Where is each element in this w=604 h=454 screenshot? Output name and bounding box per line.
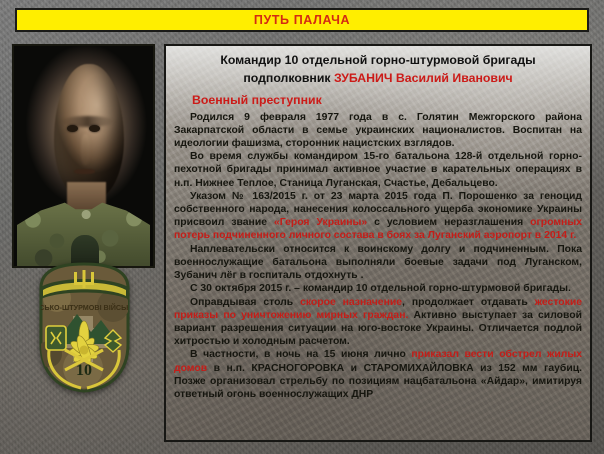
p-decree: Указом № 163/2015 г. от 23 марта 2015 го… — [174, 190, 582, 243]
body-text: в н.п. КРАСНОГОРОВКА и СТАРОМИХАЙЛОВКА и… — [174, 363, 582, 400]
body-text: С 30 октября 2015 г. – командир 10 отдел… — [190, 283, 571, 294]
highlight-text: «Героя Украины» — [274, 217, 367, 228]
body-text: Наплевательски относится к воинскому дол… — [174, 244, 582, 281]
body-text: с условием неразглашения — [367, 217, 530, 228]
body-text: , продолжает отдавать — [402, 297, 535, 308]
panel-header-line2: подполковник ЗУБАНИЧ Василий Иванович — [174, 70, 582, 88]
poster-root: ПУТЬ ПАЛАЧА — [0, 0, 604, 454]
content-panel: Командир 10 отдельной горно-штурмовой бр… — [164, 44, 592, 442]
portrait-nose — [81, 134, 91, 165]
portrait-photo — [12, 44, 155, 268]
portrait-head — [54, 64, 124, 200]
title-banner-text: ПУТЬ ПАЛАЧА — [254, 13, 350, 27]
brigade-emblem: 10 ІЙСЬКО-ШТУРМОВІ ВІЙСЬКА — [31, 258, 138, 395]
highlight-text: скорое назначение — [300, 297, 402, 308]
emblem-number: 10 — [76, 362, 92, 379]
p-birth: Родился 9 февраля 1977 года в с. Голятин… — [174, 111, 582, 151]
title-banner: ПУТЬ ПАЛАЧА — [15, 8, 589, 32]
body-text: Оправдывая столь — [190, 297, 300, 308]
p-appointment: С 30 октября 2015 г. – командир 10 отдел… — [174, 282, 582, 295]
war-criminal-label: Военный преступник — [192, 93, 582, 107]
rank-label: подполковник — [243, 71, 334, 85]
panel-paragraphs: Родился 9 февраля 1977 года в с. Голятин… — [174, 111, 582, 401]
panel-header-line1: Командир 10 отдельной горно-штурмовой бр… — [174, 52, 582, 70]
body-text: В частности, в ночь на 15 июня лично — [190, 349, 411, 360]
p-attitude: Наплевательски относится к воинскому дол… — [174, 243, 582, 283]
body-text: Родился 9 февраля 1977 года в с. Голятин… — [174, 112, 582, 149]
emblem-arc-text: ІЙСЬКО-ШТУРМОВІ ВІЙСЬКА — [32, 303, 136, 312]
portrait-photo-image — [14, 46, 153, 266]
panel-header: Командир 10 отдельной горно-штурмовой бр… — [174, 52, 582, 88]
officer-name: ЗУБАНИЧ Василий Иванович — [334, 71, 513, 85]
p-service: Во время службы командиром 15-го батальо… — [174, 150, 582, 190]
p-orders: Оправдывая столь скорое назначение, прод… — [174, 296, 582, 349]
body-text: Во время службы командиром 15-го батальо… — [174, 151, 582, 188]
emblem-left-badge — [46, 326, 66, 350]
p-shelling: В частности, в ночь на 15 июня лично при… — [174, 348, 582, 401]
